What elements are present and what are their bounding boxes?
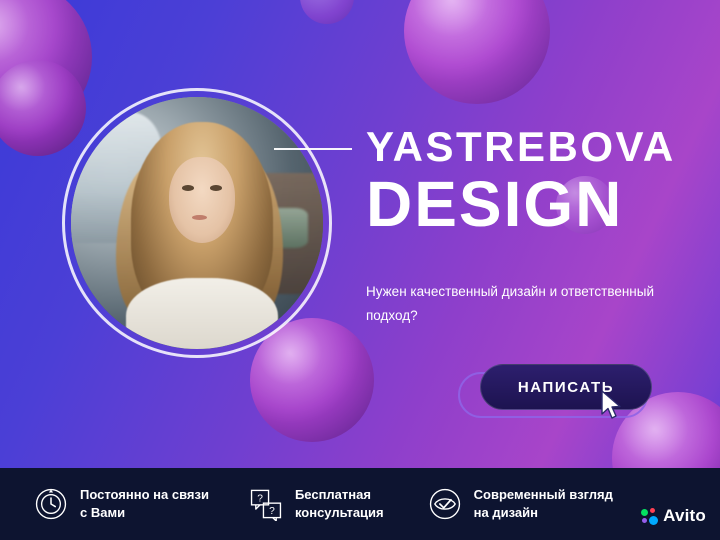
brand-name-line2: DESIGN <box>366 172 623 236</box>
avito-logo-icon <box>641 508 658 525</box>
promo-banner: YASTREBOVA DESIGN Нужен качественный диз… <box>0 0 720 540</box>
sphere-decoration-icon <box>300 0 354 24</box>
brand-name-line1: YASTREBOVA <box>366 126 676 168</box>
feature-item: ? ? Бесплатная консультация <box>249 486 384 521</box>
avito-wordmark: Avito <box>663 506 706 526</box>
eye-check-icon <box>428 487 462 521</box>
cta-area: НАПИСАТЬ <box>466 364 656 416</box>
write-button[interactable]: НАПИСАТЬ <box>480 364 652 410</box>
photo-clothing <box>126 278 277 349</box>
mouse-cursor-icon <box>600 390 622 420</box>
svg-text:?: ? <box>257 493 263 504</box>
features-bar: Постоянно на связи с Вами ? ? Бесплатная… <box>0 468 720 540</box>
question-chat-icon: ? ? <box>249 487 283 521</box>
feature-label: Бесплатная консультация <box>295 486 384 521</box>
portrait-photo <box>71 97 323 349</box>
feature-item: Постоянно на связи с Вами <box>34 486 209 521</box>
clock-badge-icon <box>34 487 68 521</box>
feature-label: Современный взгляд на дизайн <box>474 486 613 521</box>
avito-watermark: Avito <box>641 506 706 526</box>
avatar <box>62 88 332 358</box>
feature-item: Современный взгляд на дизайн <box>428 486 613 521</box>
subtitle-text: Нужен качественный дизайн и ответственны… <box>366 280 676 327</box>
sphere-decoration-icon <box>404 0 550 104</box>
title-rule <box>274 148 352 150</box>
svg-text:?: ? <box>269 506 275 517</box>
feature-label: Постоянно на связи с Вами <box>80 486 209 521</box>
photo-face <box>169 157 235 243</box>
